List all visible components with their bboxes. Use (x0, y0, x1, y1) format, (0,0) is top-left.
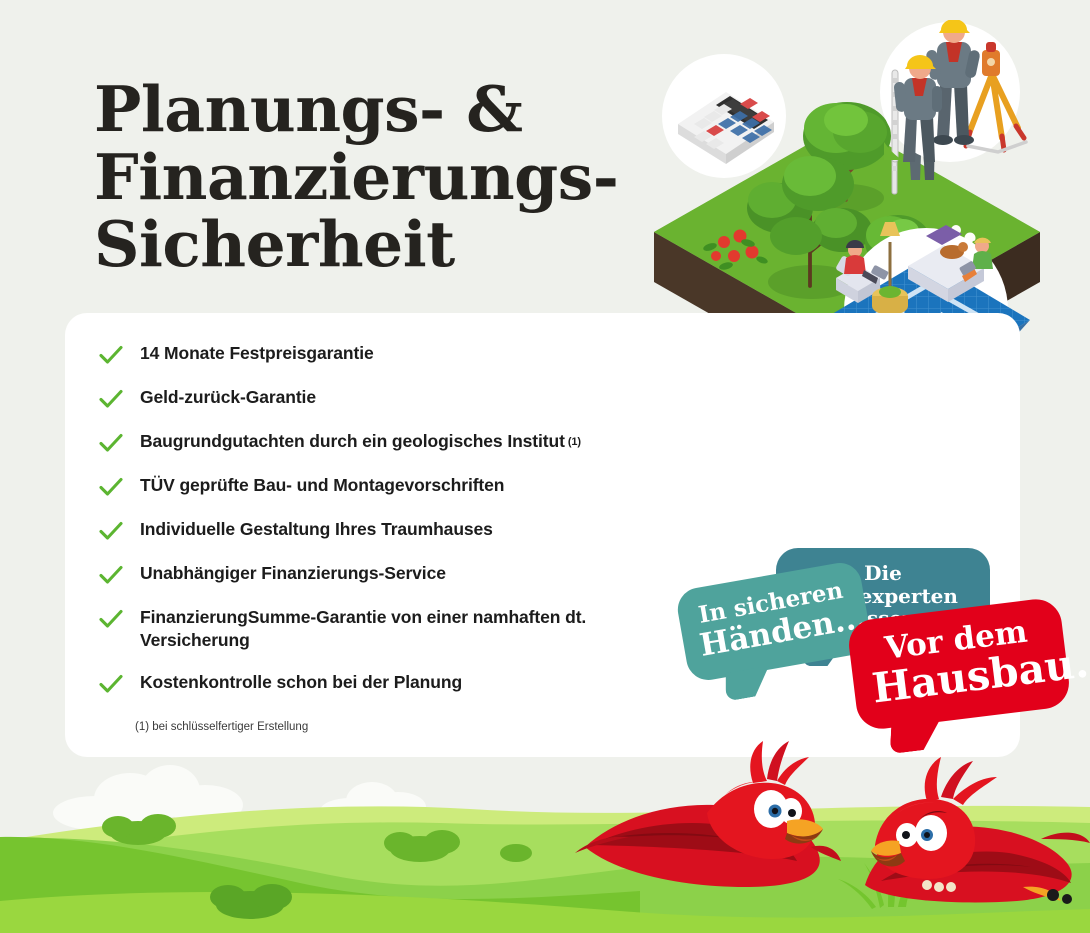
check-icon (98, 342, 124, 368)
check-icon (98, 606, 124, 632)
list-item[interactable]: FinanzierungSumme-Garantie von einer nam… (98, 605, 698, 653)
check-icon (98, 518, 124, 544)
list-item-label: 14 Monate Festpreisgarantie (140, 341, 374, 365)
calculator-badge (662, 54, 786, 178)
list-item-label: Geld-zurück-Garantie (140, 385, 316, 409)
list-item[interactable]: TÜV geprüfte Bau- und Montagevorschrifte… (98, 473, 698, 500)
list-item[interactable]: Unabhängiger Finanzierungs-Service (98, 561, 698, 588)
list-item[interactable]: 14 Monate Festpreisgarantie (98, 341, 698, 368)
list-item[interactable]: Baugrundgutachten durch ein geologisches… (98, 429, 698, 456)
list-item-label: Kostenkontrolle schon bei der Planung (140, 670, 462, 694)
birds-svg (575, 735, 1090, 933)
footnote-marker: (1) (568, 436, 581, 448)
footnote-text: (1) bei schlüsselfertiger Erstellung (135, 721, 308, 733)
bird-right (865, 757, 1090, 904)
list-item-label: Individuelle Gestaltung Ihres Traumhause… (140, 517, 493, 541)
check-icon (98, 386, 124, 412)
surveyors-badge (880, 20, 1026, 162)
check-icon (98, 562, 124, 588)
bird-left (575, 741, 841, 887)
list-item-label: TÜV geprüfte Bau- und Montagevorschrifte… (140, 473, 504, 497)
list-item-label: Baugrundgutachten durch ein geologisches… (140, 429, 581, 453)
list-item-label: FinanzierungSumme-Garantie von einer nam… (140, 605, 640, 653)
check-icon (98, 671, 124, 697)
list-item[interactable]: Geld-zurück-Garantie (98, 385, 698, 412)
check-icon (98, 474, 124, 500)
benefits-list: 14 Monate Festpreisgarantie Geld-zurück-… (98, 341, 698, 714)
list-item[interactable]: Kostenkontrolle schon bei der Planung (98, 670, 698, 697)
two-red-cartoon-birds (575, 735, 1090, 933)
check-icon (98, 430, 124, 456)
list-item[interactable]: Individuelle Gestaltung Ihres Traumhause… (98, 517, 698, 544)
bush-cluster-c (500, 844, 532, 862)
infographic-canvas: Planungs- & Finanzierungs- Sicherheit (0, 0, 1090, 933)
list-item-label: Unabhängiger Finanzierungs-Service (140, 561, 446, 585)
page-title: Planungs- & Finanzierungs- Sicherheit (94, 76, 694, 278)
